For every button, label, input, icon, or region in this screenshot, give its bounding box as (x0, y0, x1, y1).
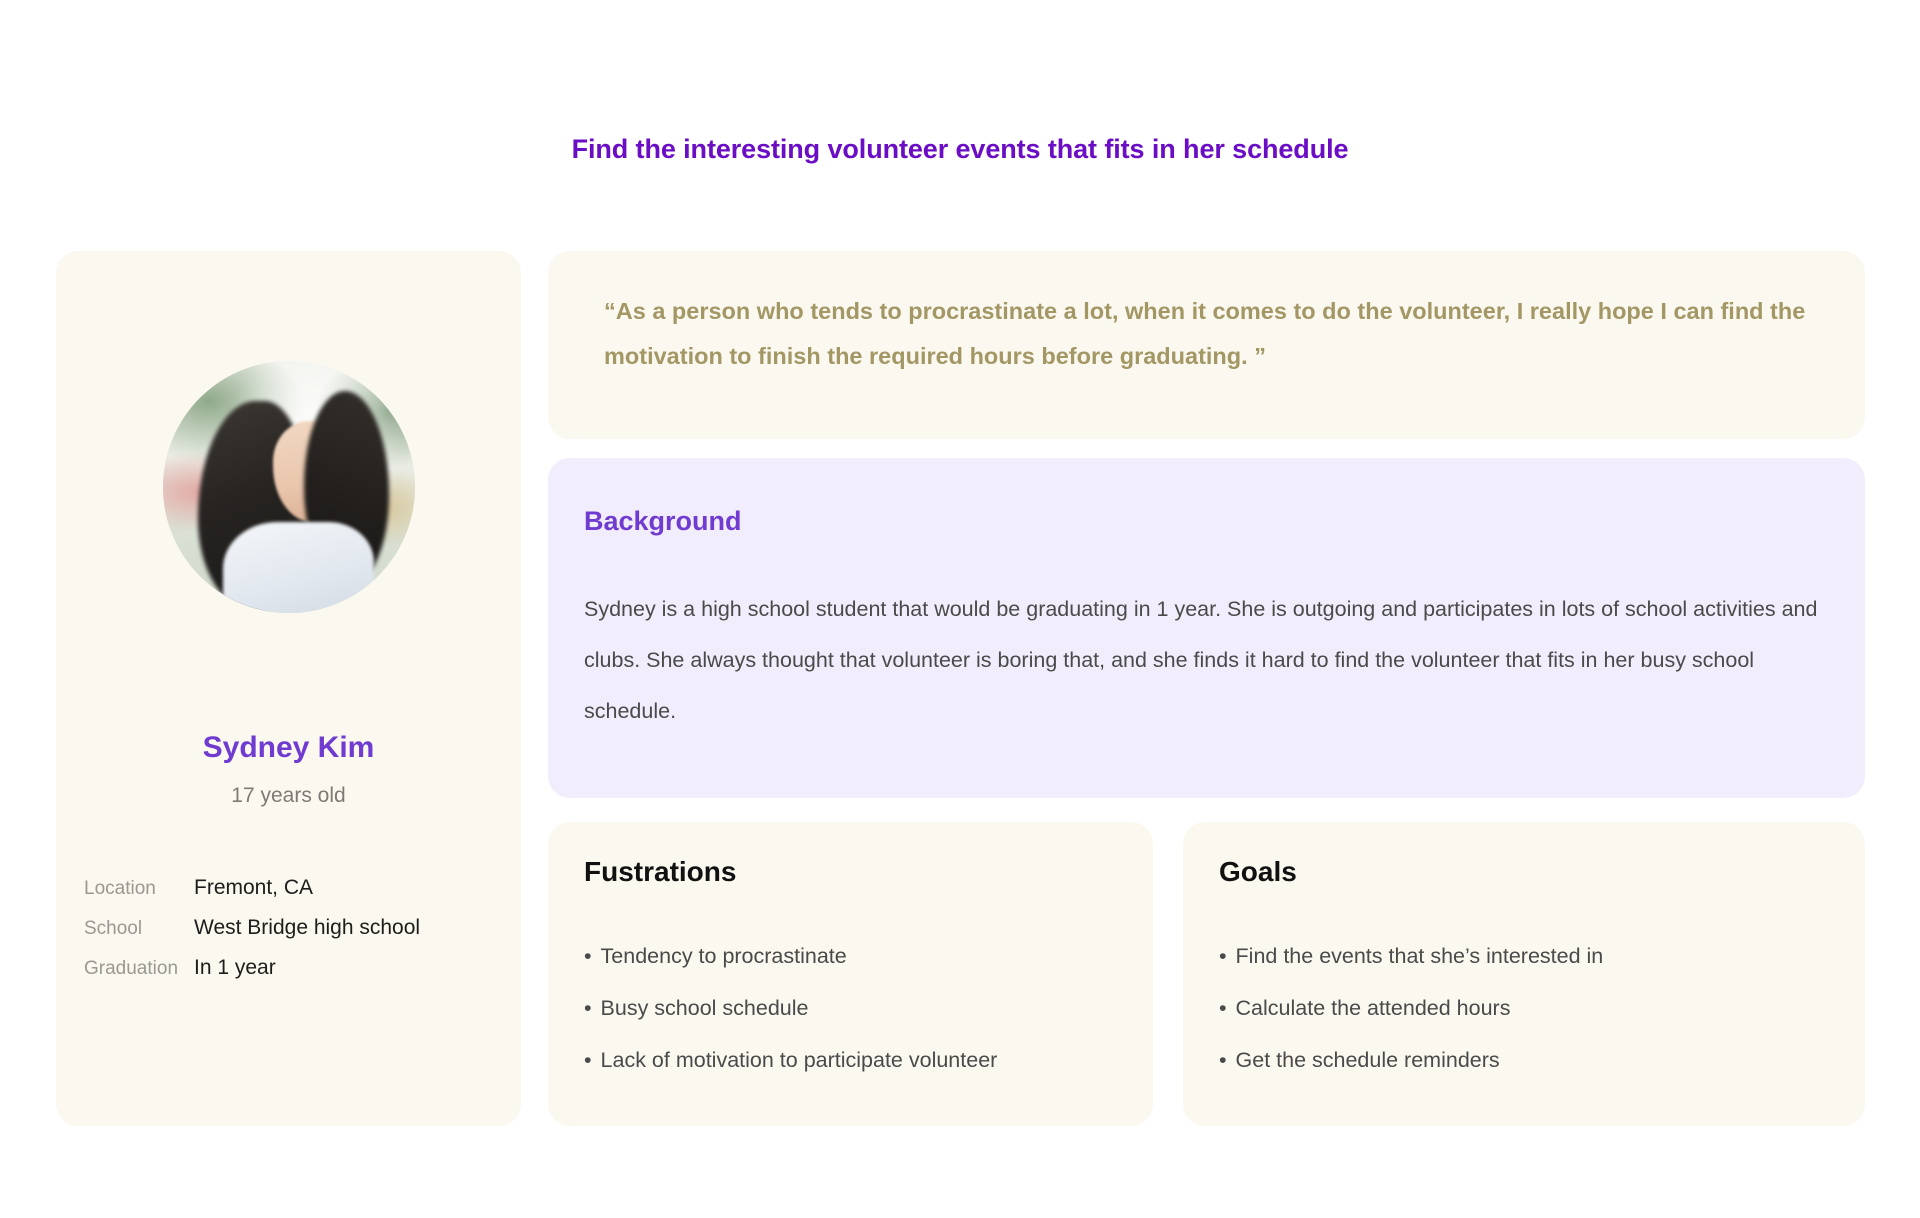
detail-label-school: School (84, 918, 194, 940)
fustrations-title: Fustrations (584, 856, 736, 888)
profile-card: Sydney Kim 17 years old Location Fremont… (56, 251, 521, 1126)
list-item: Get the schedule reminders (1219, 1034, 1833, 1086)
fustrations-list: Tendency to procrastinate Busy school sc… (584, 930, 1129, 1086)
profile-name: Sydney Kim (56, 731, 521, 765)
fustrations-card: Fustrations Tendency to procrastinate Bu… (548, 822, 1153, 1126)
background-title: Background (584, 506, 742, 537)
list-item: Find the events that she’s interested in (1219, 930, 1833, 982)
profile-age: 17 years old (56, 784, 521, 808)
profile-detail-list: Location Fremont, CA School West Bridge … (84, 876, 504, 996)
user-portrait-photo-icon (163, 361, 415, 613)
page-title: Find the interesting volunteer events th… (0, 134, 1920, 165)
background-card: Background Sydney is a high school stude… (548, 458, 1865, 798)
avatar-shirt (223, 522, 374, 613)
detail-value-school: West Bridge high school (194, 916, 420, 940)
persona-page: Find the interesting volunteer events th… (0, 0, 1920, 1218)
detail-value-location: Fremont, CA (194, 876, 313, 900)
list-item: Lack of motivation to participate volunt… (584, 1034, 1129, 1086)
detail-label-location: Location (84, 878, 194, 900)
detail-row-location: Location Fremont, CA (84, 876, 504, 916)
detail-row-school: School West Bridge high school (84, 916, 504, 956)
background-text: Sydney is a high school student that wou… (584, 584, 1834, 737)
list-item: Calculate the attended hours (1219, 982, 1833, 1034)
goals-title: Goals (1219, 856, 1297, 888)
goals-card: Goals Find the events that she’s interes… (1183, 822, 1865, 1126)
list-item: Busy school schedule (584, 982, 1129, 1034)
list-item: Tendency to procrastinate (584, 930, 1129, 982)
quote-card: “As a person who tends to procrastinate … (548, 251, 1865, 439)
detail-row-graduation: Graduation In 1 year (84, 956, 504, 996)
detail-value-graduation: In 1 year (194, 956, 276, 980)
quote-text: “As a person who tends to procrastinate … (604, 289, 1814, 379)
avatar (163, 361, 415, 613)
goals-list: Find the events that she’s interested in… (1219, 930, 1833, 1086)
detail-label-graduation: Graduation (84, 958, 194, 980)
